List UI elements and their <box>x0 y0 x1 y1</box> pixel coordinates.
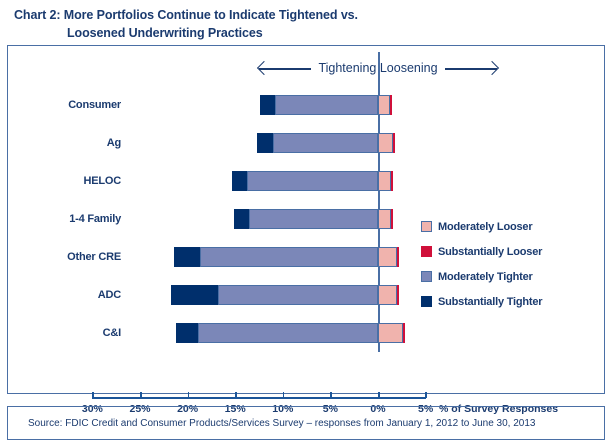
title-line-2: Loosened Underwriting Practices <box>14 24 574 42</box>
category-label: Consumer <box>8 99 121 111</box>
bar-segment-substantially-tighter <box>232 171 246 191</box>
bar-segment-moderately-tighter <box>247 171 378 191</box>
category-label: ADC <box>8 289 121 301</box>
bar-segment-substantially-looser <box>403 323 405 343</box>
bar-segment-moderately-looser <box>378 247 397 267</box>
legend-item[interactable]: Substantially Tighter <box>421 289 601 314</box>
axis-tick <box>235 392 237 398</box>
bar-segment-moderately-looser <box>378 323 403 343</box>
bar-segment-substantially-tighter <box>257 133 273 153</box>
category-label: Ag <box>8 137 121 149</box>
category-label: 1-4 Family <box>8 213 121 225</box>
bar-segment-substantially-looser <box>391 209 393 229</box>
legend-item[interactable]: Moderately Tighter <box>421 264 601 289</box>
legend-item[interactable]: Substantially Looser <box>421 239 601 264</box>
axis-line <box>92 397 426 399</box>
bar-segment-moderately-tighter <box>200 247 378 267</box>
bar-segment-moderately-looser <box>378 95 390 115</box>
bar-track <box>121 314 606 352</box>
title-line-1: Chart 2: More Portfolios Continue to Ind… <box>14 6 574 24</box>
left-arrow-icon <box>259 62 311 74</box>
axis-tick <box>92 392 94 398</box>
axis-tick <box>378 392 380 398</box>
legend-item[interactable]: Moderately Looser <box>421 214 601 239</box>
category-label: C&I <box>8 327 121 339</box>
bar-segment-moderately-tighter <box>273 133 378 153</box>
bar-segment-substantially-looser <box>397 285 399 305</box>
bar-track <box>121 86 606 124</box>
axis-tick <box>188 392 190 398</box>
bar-segment-moderately-looser <box>378 171 391 191</box>
legend-label: Substantially Looser <box>438 246 542 258</box>
plot-area: ConsumerAgHELOC1-4 FamilyOther CREADCC&I… <box>8 86 606 356</box>
category-label: HELOC <box>8 175 121 187</box>
source-text: Source: FDIC Credit and Consumer Product… <box>8 418 535 429</box>
chart-row: Ag <box>8 124 606 162</box>
bar-track <box>121 162 606 200</box>
chart-panel: Tightening Loosening ConsumerAgHELOC1-4 … <box>7 45 605 394</box>
legend-label: Substantially Tighter <box>438 296 542 308</box>
source-panel: Source: FDIC Credit and Consumer Product… <box>7 406 605 440</box>
bar-segment-moderately-looser <box>378 133 393 153</box>
bar-segment-substantially-looser <box>393 133 395 153</box>
chart-row: C&I <box>8 314 606 352</box>
bar-segment-moderately-tighter <box>218 285 378 305</box>
page-title: Chart 2: More Portfolios Continue to Ind… <box>14 6 574 42</box>
legend-swatch-icon <box>421 246 432 257</box>
bar-segment-moderately-tighter <box>198 323 378 343</box>
axis-tick <box>330 392 332 398</box>
axis-tick <box>140 392 142 398</box>
bar-segment-moderately-looser <box>378 209 391 229</box>
category-label: Other CRE <box>8 251 121 263</box>
bar-segment-substantially-looser <box>397 247 399 267</box>
legend-swatch-icon <box>421 296 432 307</box>
legend-label: Moderately Looser <box>438 221 532 233</box>
legend-label: Moderately Tighter <box>438 271 533 283</box>
bar-segment-substantially-tighter <box>174 247 200 267</box>
legend: Moderately LooserSubstantially LooserMod… <box>421 214 601 314</box>
legend-swatch-icon <box>421 221 432 232</box>
axis-tick <box>426 392 428 398</box>
right-arrow-icon <box>445 62 497 74</box>
bar-segment-substantially-tighter <box>176 323 198 343</box>
bar-segment-substantially-tighter <box>234 209 248 229</box>
bar-segment-moderately-looser <box>378 285 397 305</box>
chart-page: Chart 2: More Portfolios Continue to Ind… <box>0 0 614 447</box>
chart-row: Consumer <box>8 86 606 124</box>
bar-segment-substantially-looser <box>391 171 393 191</box>
bar-segment-moderately-tighter <box>249 209 378 229</box>
chart-row: HELOC <box>8 162 606 200</box>
bar-track <box>121 124 606 162</box>
bar-segment-substantially-tighter <box>171 285 218 305</box>
bar-segment-substantially-tighter <box>260 95 275 115</box>
bar-segment-substantially-looser <box>390 95 392 115</box>
legend-swatch-icon <box>421 271 432 282</box>
bar-segment-moderately-tighter <box>275 95 378 115</box>
axis-tick <box>283 392 285 398</box>
